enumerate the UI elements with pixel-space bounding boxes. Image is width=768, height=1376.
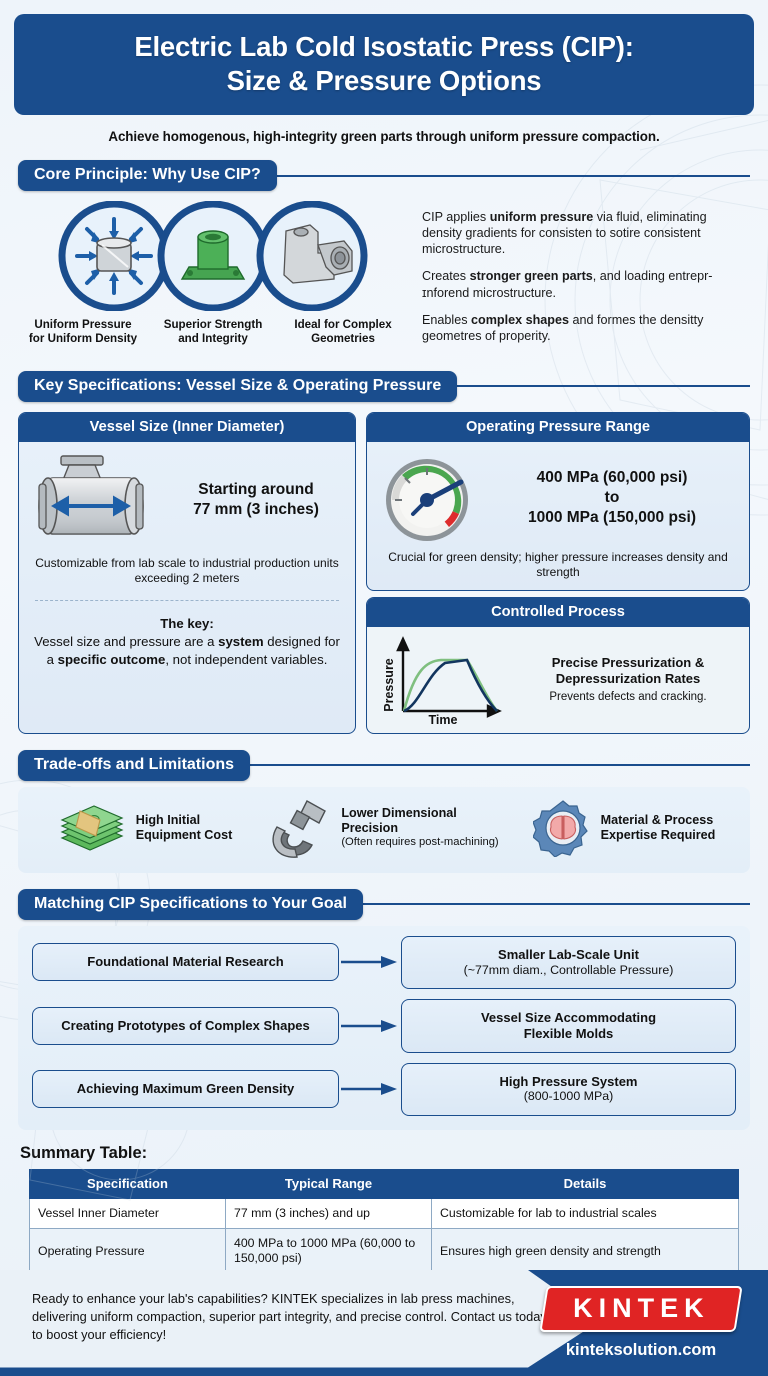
tradeoff-item-cost: High Initial Equipment Cost: [24, 802, 264, 854]
pressure-column: Operating Pressure Range: [366, 412, 750, 734]
cylinder-part: [97, 238, 131, 271]
process-headline: Precise Pressurization & Depressurizatio…: [515, 655, 741, 688]
pressure-note: Crucial for green density; higher pressu…: [367, 548, 749, 590]
vessel-top-row: Starting around 77 mm (3 inches): [31, 452, 343, 548]
matching-spec-sub-0: (~77mm diam., Controllable Pressure): [410, 963, 727, 978]
cell-spec-1: Operating Pressure: [30, 1228, 226, 1274]
summary-header-row: Specification Typical Range Details: [30, 1169, 739, 1198]
core-icon-label-1-l2: and Integrity: [178, 332, 248, 345]
section-rule: [271, 175, 750, 177]
tradeoff-item-precision: Lower Dimensional Precision (Often requi…: [264, 797, 504, 859]
matching-row: Creating Prototypes of Complex Shapes Ve…: [32, 999, 736, 1053]
core-icons-chain: [18, 201, 408, 311]
tradeoff-label-expertise: Material & Process Expertise Required: [601, 813, 716, 843]
key-specs-section-header: Key Specifications: Vessel Size & Operat…: [18, 371, 750, 402]
core-icon-label-0-l2: for Uniform Density: [29, 332, 137, 345]
section-rule: [451, 385, 750, 387]
core-icon-label-2-l1: Ideal for Complex: [294, 318, 391, 331]
matching-section: Matching CIP Specifications to Your Goal…: [0, 889, 768, 1130]
arrow-right-icon: [341, 954, 399, 970]
gear-brain-icon: [533, 799, 593, 857]
core-principle-section: Core Principle: Why Use CIP?: [0, 160, 768, 355]
core-principle-section-label: Core Principle: Why Use CIP?: [18, 160, 277, 191]
summary-col-specification: Specification: [30, 1169, 226, 1198]
page-header: Electric Lab Cold Isostatic Press (CIP):…: [14, 14, 754, 115]
core-p0-pre: CIP applies: [422, 210, 490, 224]
section-rule: [244, 764, 750, 766]
core-p0-bold: uniform pressure: [490, 210, 594, 224]
vessel-headline: Starting around 77 mm (3 inches): [169, 480, 343, 519]
money-stack-icon: [56, 802, 128, 854]
key-specifications-section: Key Specifications: Vessel Size & Operat…: [0, 371, 768, 734]
footer-cta-text: Ready to enhance your lab's capabilities…: [32, 1290, 552, 1344]
summary-table-head: Specification Typical Range Details: [30, 1169, 739, 1198]
vessel-headline-l2: 77 mm (3 inches): [193, 501, 319, 518]
matching-spec-box[interactable]: Vessel Size Accommodating Flexible Molds: [401, 999, 736, 1053]
tradeoff-label-cost: High Initial Equipment Cost: [136, 813, 233, 843]
core-icon-label-1-l1: Superior Strength: [164, 318, 263, 331]
tradeoff-cost-l1: High Initial: [136, 813, 200, 827]
core-p2-pre: Enables: [422, 313, 471, 327]
process-headline-l1: Precise Pressurization &: [552, 655, 704, 670]
vessel-note: Customizable from lab scale to industria…: [31, 556, 343, 586]
tradeoffs-section: Trade-offs and Limitations High Initial: [0, 750, 768, 873]
vessel-key-b2: specific outcome: [58, 652, 166, 667]
tradeoff-prec-l2: Precision: [341, 821, 398, 835]
core-icon-label-0: Uniform Pressure for Uniform Density: [18, 318, 148, 346]
page-title-line2: Size & Pressure Options: [227, 65, 542, 96]
micrometer-icon: [269, 797, 333, 859]
core-p1-bold: stronger green parts: [470, 269, 593, 283]
tradeoff-label-precision: Lower Dimensional Precision (Often requi…: [341, 806, 498, 850]
core-icon-labels: Uniform Pressure for Uniform Density Sup…: [18, 318, 408, 346]
page-title-line1: Electric Lab Cold Isostatic Press (CIP):: [134, 31, 633, 62]
pressure-gauge-icon: [375, 450, 479, 546]
pressure-card-body: 400 MPa (60,000 psi) to 1000 MPa (150,00…: [367, 442, 749, 548]
tradeoffs-section-header: Trade-offs and Limitations: [18, 750, 750, 781]
footer-website-url[interactable]: kinteksolution.com: [536, 1341, 746, 1360]
table-row: Operating Pressure 400 MPa to 1000 MPa (…: [30, 1228, 739, 1274]
key-specs-cards: Vessel Size (Inner Diameter): [18, 412, 750, 734]
cell-spec-0: Vessel Inner Diameter: [30, 1198, 226, 1228]
core-paragraph-2: Enables complex shapes and formes the de…: [422, 312, 744, 344]
tradeoffs-section-label: Trade-offs and Limitations: [18, 750, 250, 781]
chart-y-axis-label: Pressure: [382, 658, 396, 712]
core-paragraph-0: CIP applies uniform pressure via fluid, …: [422, 209, 744, 257]
core-principle-section-header: Core Principle: Why Use CIP?: [18, 160, 750, 191]
vessel-size-card: Vessel Size (Inner Diameter): [18, 412, 356, 734]
tradeoffs-items: High Initial Equipment Cost Lower Dimens…: [18, 787, 750, 873]
key-specs-section-label: Key Specifications: Vessel Size & Operat…: [18, 371, 457, 402]
tradeoff-exp-l2: Expertise Required: [601, 828, 716, 842]
pressure-value-l3: 1000 MPa (150,000 psi): [528, 509, 696, 526]
core-principle-content: Uniform Pressure for Uniform Density Sup…: [18, 201, 750, 355]
kintek-logo-text: KINTEK: [573, 1293, 710, 1324]
matching-row: Foundational Material Research Smaller L…: [32, 936, 736, 989]
matching-spec-sub-1: Flexible Molds: [524, 1026, 614, 1041]
summary-table-title: Summary Table:: [20, 1144, 768, 1163]
arrow-right-icon: [341, 1081, 399, 1097]
process-card-body: Pressure Time Precise Pressurization & D…: [367, 627, 749, 733]
matching-goal-box[interactable]: Creating Prototypes of Complex Shapes: [32, 1007, 339, 1045]
vessel-headline-l1: Starting around: [198, 481, 313, 498]
tradeoff-cost-l2: Equipment Cost: [136, 828, 233, 842]
process-note: Prevents defects and cracking.: [515, 691, 741, 703]
pressure-time-curve-chart: Pressure Time: [375, 633, 509, 725]
vessel-divider: [35, 600, 339, 601]
page-subtitle: Achieve homogenous, high-integrity green…: [0, 129, 768, 144]
core-principle-text: CIP applies uniform pressure via fluid, …: [408, 201, 750, 355]
vessel-card-title: Vessel Size (Inner Diameter): [19, 413, 355, 442]
core-icon-label-0-l1: Uniform Pressure: [34, 318, 131, 331]
summary-col-typical-range: Typical Range: [226, 1169, 432, 1198]
vessel-key-pre: Vessel size and pressure are a: [34, 634, 218, 649]
controlled-process-card: Controlled Process Pressure: [366, 597, 750, 734]
matching-row: Achieving Maximum Green Density High Pre…: [32, 1063, 736, 1116]
operating-pressure-card: Operating Pressure Range: [366, 412, 750, 591]
arrow-right-icon: [341, 1018, 399, 1034]
matching-spec-sub-2: (800-1000 MPa): [410, 1089, 727, 1104]
footer-brand: KINTEK kinteksolution.com: [536, 1286, 746, 1360]
pressure-value-l1: 400 MPa (60,000 psi): [537, 469, 688, 486]
matching-spec-main-1: Vessel Size Accommodating: [481, 1010, 656, 1025]
vessel-card-body: Starting around 77 mm (3 inches) Customi…: [19, 442, 355, 680]
infographic-page: Electric Lab Cold Isostatic Press (CIP):…: [0, 0, 768, 1376]
core-paragraph-1: Creates stronger green parts, and loadin…: [422, 268, 744, 300]
cell-range-0: 77 mm (3 inches) and up: [226, 1198, 432, 1228]
matching-arrow-cell: [339, 1018, 401, 1034]
tradeoff-prec-l1: Lower Dimensional: [341, 806, 456, 820]
pressure-vessel-icon: [31, 452, 163, 548]
core-icon-label-1: Superior Strength and Integrity: [148, 318, 278, 346]
core-p2-bold: complex shapes: [471, 313, 569, 327]
chart-x-axis-label: Time: [429, 713, 458, 725]
page-footer: Ready to enhance your lab's capabilities…: [0, 1270, 768, 1376]
matching-goal-box[interactable]: Foundational Material Research: [32, 943, 339, 981]
pressure-card-title: Operating Pressure Range: [367, 413, 749, 442]
table-row: Vessel Inner Diameter 77 mm (3 inches) a…: [30, 1198, 739, 1228]
tradeoff-exp-l1: Material & Process: [601, 813, 714, 827]
page-title: Electric Lab Cold Isostatic Press (CIP):…: [24, 30, 744, 97]
kintek-logo: KINTEK: [539, 1286, 742, 1332]
matching-goal-box[interactable]: Achieving Maximum Green Density: [32, 1070, 339, 1108]
vessel-key-b1: system: [218, 634, 263, 649]
vessel-key-post: , not independent variables.: [165, 652, 327, 667]
core-p1-pre: Creates: [422, 269, 470, 283]
matching-spec-main-0: Smaller Lab-Scale Unit: [498, 947, 639, 962]
matching-spec-main-2: High Pressure System: [499, 1074, 637, 1089]
summary-col-details: Details: [432, 1169, 739, 1198]
matching-rows: Foundational Material Research Smaller L…: [18, 926, 750, 1130]
tradeoff-item-expertise: Material & Process Expertise Required: [504, 799, 744, 857]
section-rule: [357, 903, 750, 905]
matching-section-label: Matching CIP Specifications to Your Goal: [18, 889, 363, 920]
matching-spec-box[interactable]: High Pressure System (800-1000 MPa): [401, 1063, 736, 1116]
process-headline-l2: Depressurization Rates: [556, 671, 701, 686]
core-principle-icons: Uniform Pressure for Uniform Density Sup…: [18, 201, 408, 355]
vessel-key-title: The key:: [31, 615, 343, 632]
cell-details-0: Customizable for lab to industrial scale…: [432, 1198, 739, 1228]
core-icon-label-2: Ideal for Complex Geometries: [278, 318, 408, 346]
process-text: Precise Pressurization & Depressurizatio…: [515, 655, 741, 703]
process-card-title: Controlled Process: [367, 598, 749, 627]
core-icon-label-2-l2: Geometries: [311, 332, 375, 345]
pressure-value-l2: to: [605, 489, 620, 506]
cell-range-1: 400 MPa to 1000 MPa (60,000 to 150,000 p…: [226, 1228, 432, 1274]
pressure-range-value: 400 MPa (60,000 psi) to 1000 MPa (150,00…: [483, 468, 741, 528]
matching-spec-box[interactable]: Smaller Lab-Scale Unit (~77mm diam., Con…: [401, 936, 736, 989]
matching-arrow-cell: [339, 1081, 401, 1097]
tradeoff-prec-sub: (Often requires post-machining): [341, 836, 498, 850]
cell-details-1: Ensures high green density and strength: [432, 1228, 739, 1274]
matching-section-header: Matching CIP Specifications to Your Goal: [18, 889, 750, 920]
vessel-key-statement: The key: Vessel size and pressure are a …: [31, 615, 343, 668]
matching-arrow-cell: [339, 954, 401, 970]
